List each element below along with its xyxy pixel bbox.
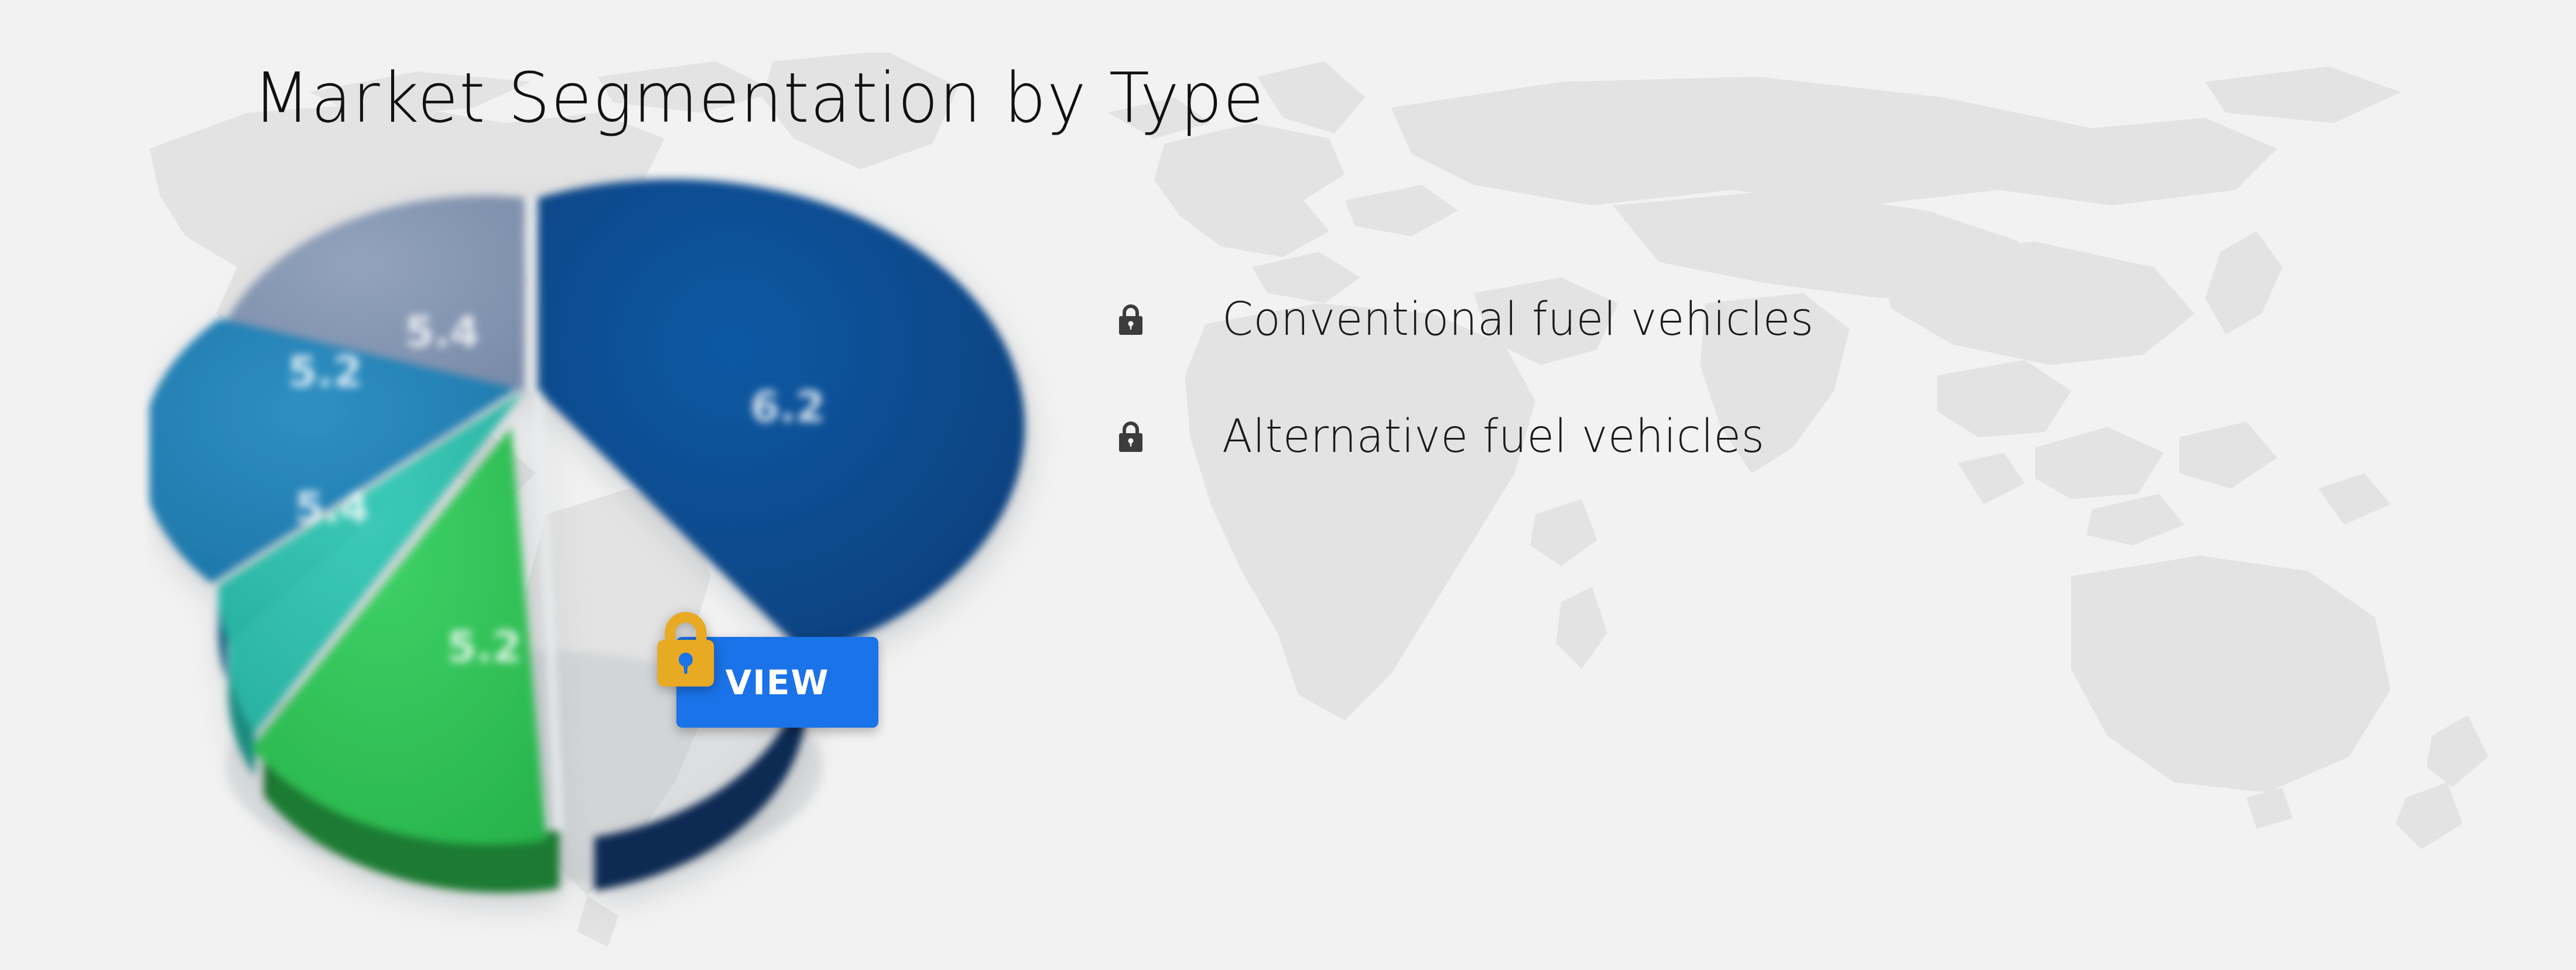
paywall-overlay: VIEW (650, 609, 884, 735)
legend-item-conventional-fuel-vehicles[interactable]: Conventional fuel vehicles (1116, 293, 2111, 347)
svg-text:5.4: 5.4 (295, 483, 370, 532)
lock-icon (1116, 303, 1146, 337)
svg-text:5.4: 5.4 (405, 307, 480, 357)
legend: Conventional fuel vehicles Alternative f… (1116, 293, 2111, 527)
svg-text:5.2: 5.2 (288, 347, 362, 396)
legend-item-alternative-fuel-vehicles[interactable]: Alternative fuel vehicles (1116, 410, 2111, 464)
page-title: Market Segmentation by Type (253, 63, 1265, 132)
legend-item-label: Conventional fuel vehicles (1222, 293, 1814, 346)
lock-icon (1116, 420, 1146, 454)
view-button-label: VIEW (725, 663, 829, 702)
svg-text:5.2: 5.2 (447, 622, 522, 671)
lock-icon (650, 609, 721, 691)
infographic-slide: Market Segmentation by Type (0, 0, 2576, 970)
pie-chart-blurred-layer: 6.2 5.4 5.2 5.4 5.2 (149, 176, 1063, 942)
legend-item-label: Alternative fuel vehicles (1222, 410, 1764, 463)
pie-chart: 6.2 5.4 5.2 5.4 5.2 6.2 5.4 5.2 5.4 5.2 … (149, 176, 1063, 942)
svg-text:6.2: 6.2 (750, 382, 825, 431)
